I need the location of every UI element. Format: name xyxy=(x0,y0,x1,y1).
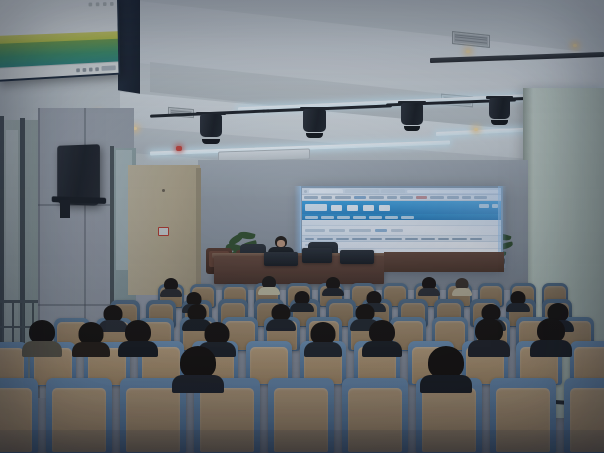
column-header[interactable] xyxy=(336,238,349,240)
app-title xyxy=(331,205,390,211)
desktop-icon-group[interactable] xyxy=(89,2,114,6)
desk-monitor[interactable] xyxy=(302,248,332,263)
nav-item[interactable] xyxy=(369,216,382,219)
audience-person xyxy=(172,346,224,390)
stage-par-light xyxy=(398,101,426,129)
presenter-laptop[interactable] xyxy=(264,252,298,266)
tray-icon[interactable] xyxy=(95,67,99,71)
bookmark-item[interactable] xyxy=(447,196,459,199)
wall-monitor[interactable] xyxy=(0,0,120,82)
bookmark-item[interactable] xyxy=(304,196,318,199)
table-header-row xyxy=(302,235,501,242)
filter-field[interactable] xyxy=(329,229,345,232)
audience-person xyxy=(530,318,572,356)
tray-icon[interactable] xyxy=(76,68,80,72)
audience-person xyxy=(304,322,342,356)
nav-item[interactable] xyxy=(337,216,350,219)
bookmark-item[interactable] xyxy=(387,196,397,199)
audience-person xyxy=(72,322,110,356)
stage-par-light xyxy=(196,112,226,142)
search-button[interactable] xyxy=(375,229,387,232)
filter-field[interactable] xyxy=(305,229,325,232)
audience-person xyxy=(266,304,296,330)
column-header[interactable] xyxy=(438,238,449,240)
tray-icon[interactable] xyxy=(83,68,87,72)
emergency-indicator-light xyxy=(176,146,182,151)
downlight xyxy=(573,44,577,47)
aisle-floor xyxy=(0,430,604,453)
tray-icon[interactable] xyxy=(89,67,93,71)
browser-control-dot[interactable] xyxy=(304,190,307,193)
downlight xyxy=(466,50,470,53)
audience-person xyxy=(452,278,472,295)
column-header[interactable] xyxy=(452,238,467,240)
bookmark-item[interactable] xyxy=(400,196,413,199)
column-header[interactable] xyxy=(470,238,482,240)
audience-person xyxy=(362,320,402,356)
monitor-mount-arm xyxy=(118,0,140,94)
audience-person xyxy=(258,276,280,294)
bookmark-item[interactable] xyxy=(430,196,444,199)
side-table xyxy=(384,252,504,272)
wall-speaker xyxy=(57,144,100,206)
audience-person xyxy=(418,277,440,295)
column-header[interactable] xyxy=(352,238,367,240)
stage-par-light xyxy=(300,107,329,136)
nav-item[interactable] xyxy=(401,216,414,219)
browser-tab-strip[interactable] xyxy=(302,188,501,195)
audience-person xyxy=(118,320,158,356)
column-header[interactable] xyxy=(421,238,435,240)
column-header[interactable] xyxy=(305,238,314,240)
browser-address-bar[interactable] xyxy=(407,190,499,193)
wood-panel-wall xyxy=(128,165,200,295)
bookmark-item[interactable] xyxy=(335,196,351,199)
bookmark-item[interactable] xyxy=(474,196,487,199)
app-user-menu[interactable] xyxy=(479,204,498,208)
column-header[interactable] xyxy=(370,238,382,240)
app-logo[interactable] xyxy=(305,204,327,211)
desk-monitor[interactable] xyxy=(340,250,374,264)
browser-tab[interactable] xyxy=(345,189,379,193)
audience-person xyxy=(322,277,344,295)
audience-person xyxy=(22,320,62,356)
browser-tab[interactable] xyxy=(381,189,405,193)
bookmark-item[interactable] xyxy=(369,196,384,199)
nav-item[interactable] xyxy=(305,216,318,219)
column-header[interactable] xyxy=(405,238,418,240)
app-header-banner xyxy=(302,201,501,214)
audience-person xyxy=(468,318,510,356)
bookmark-item[interactable] xyxy=(416,196,427,199)
wood-panel-edge xyxy=(196,168,201,294)
filter-toolbar[interactable] xyxy=(302,226,501,235)
nav-item[interactable] xyxy=(353,216,366,219)
stage-par-light xyxy=(486,96,513,123)
nav-item[interactable] xyxy=(321,216,334,219)
browser-tab[interactable] xyxy=(309,189,343,193)
audience-person xyxy=(420,346,472,390)
column-header[interactable] xyxy=(317,238,333,240)
conference-hall-photo xyxy=(0,0,604,453)
bookmark-item[interactable] xyxy=(462,196,471,199)
speaker-bracket xyxy=(60,200,70,218)
reset-button[interactable] xyxy=(391,229,403,232)
bookmark-item[interactable] xyxy=(321,196,332,199)
nav-item[interactable] xyxy=(385,216,398,219)
audience-person xyxy=(506,291,530,311)
taskbar-clock[interactable] xyxy=(101,66,115,72)
exit-sign xyxy=(158,227,169,236)
downlight xyxy=(474,128,478,131)
audience-person xyxy=(160,278,182,296)
bookmark-item[interactable] xyxy=(354,196,366,199)
filter-field[interactable] xyxy=(349,229,371,232)
column-header[interactable] xyxy=(385,238,402,240)
